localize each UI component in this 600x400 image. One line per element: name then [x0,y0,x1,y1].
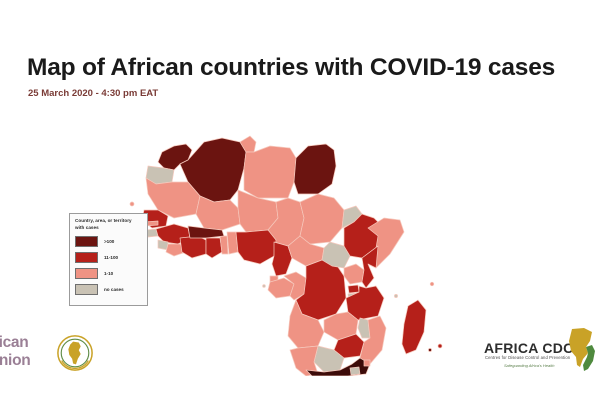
legend-swatch-11-100 [75,252,98,263]
covid-africa-map-slide: Map of African countries with COVID-19 c… [0,0,600,400]
africa-cdc-sub-tagline: Safeguarding Africa's Health [504,363,554,368]
map-legend: Country, area, or territory with cases >… [69,213,148,306]
legend-label-11-100: 11-100 [104,255,118,260]
timestamp-subtitle: 25 March 2020 - 4:30 pm EAT [28,88,158,99]
region-nigeria [236,230,276,264]
region-sudan [300,194,344,244]
legend-swatch-over-100 [75,236,98,247]
africa-cdc-logo: AFRICA CDC Centres for Disease Control a… [482,330,594,378]
legend-item-over-100: >100 [75,234,142,249]
legend-label-over-100: >100 [104,239,114,244]
region-sao-tome [263,285,266,288]
legend-swatch-no-cases [75,284,98,295]
african-union-line2: Union [0,352,30,370]
africa-choropleth-map [118,106,478,376]
region-mauritius [438,344,442,348]
legend-item-1-10: 1-10 [75,266,142,281]
africa-cdc-tagline: Centres for Disease Control and Preventi… [485,355,570,360]
region-rwanda [348,285,359,293]
page-title: Map of African countries with COVID-19 c… [27,54,555,82]
region-comoros [394,294,397,297]
legend-item-11-100: 11-100 [75,250,142,265]
region-ivory-coast [180,236,206,258]
region-madagascar [402,300,426,354]
african-union-logo: frican Union [0,330,100,378]
legend-title: Country, area, or territory with cases [75,218,142,231]
africa-cdc-wordmark: AFRICA CDC [484,340,574,356]
african-union-wordmark: frican Union [0,334,30,370]
legend-label-no-cases: no cases [104,287,124,292]
region-libya [244,146,296,198]
region-cape-verde [130,202,134,206]
region-reunion [428,348,431,351]
legend-swatch-1-10 [75,268,98,279]
region-ghana [206,238,222,258]
legend-label-1-10: 1-10 [104,271,113,276]
region-eswatini [364,360,370,366]
africa-cdc-map-icon [566,327,596,373]
region-seychelles [430,282,434,286]
legend-item-no-cases: no cases [75,282,142,297]
map-svg [118,106,478,376]
region-sierra-leone [158,240,168,250]
region-egypt [294,144,336,194]
region-uganda [344,264,364,284]
region-lesotho [350,367,360,375]
african-union-line1: frican [0,334,30,352]
african-union-emblem-icon [56,334,94,372]
